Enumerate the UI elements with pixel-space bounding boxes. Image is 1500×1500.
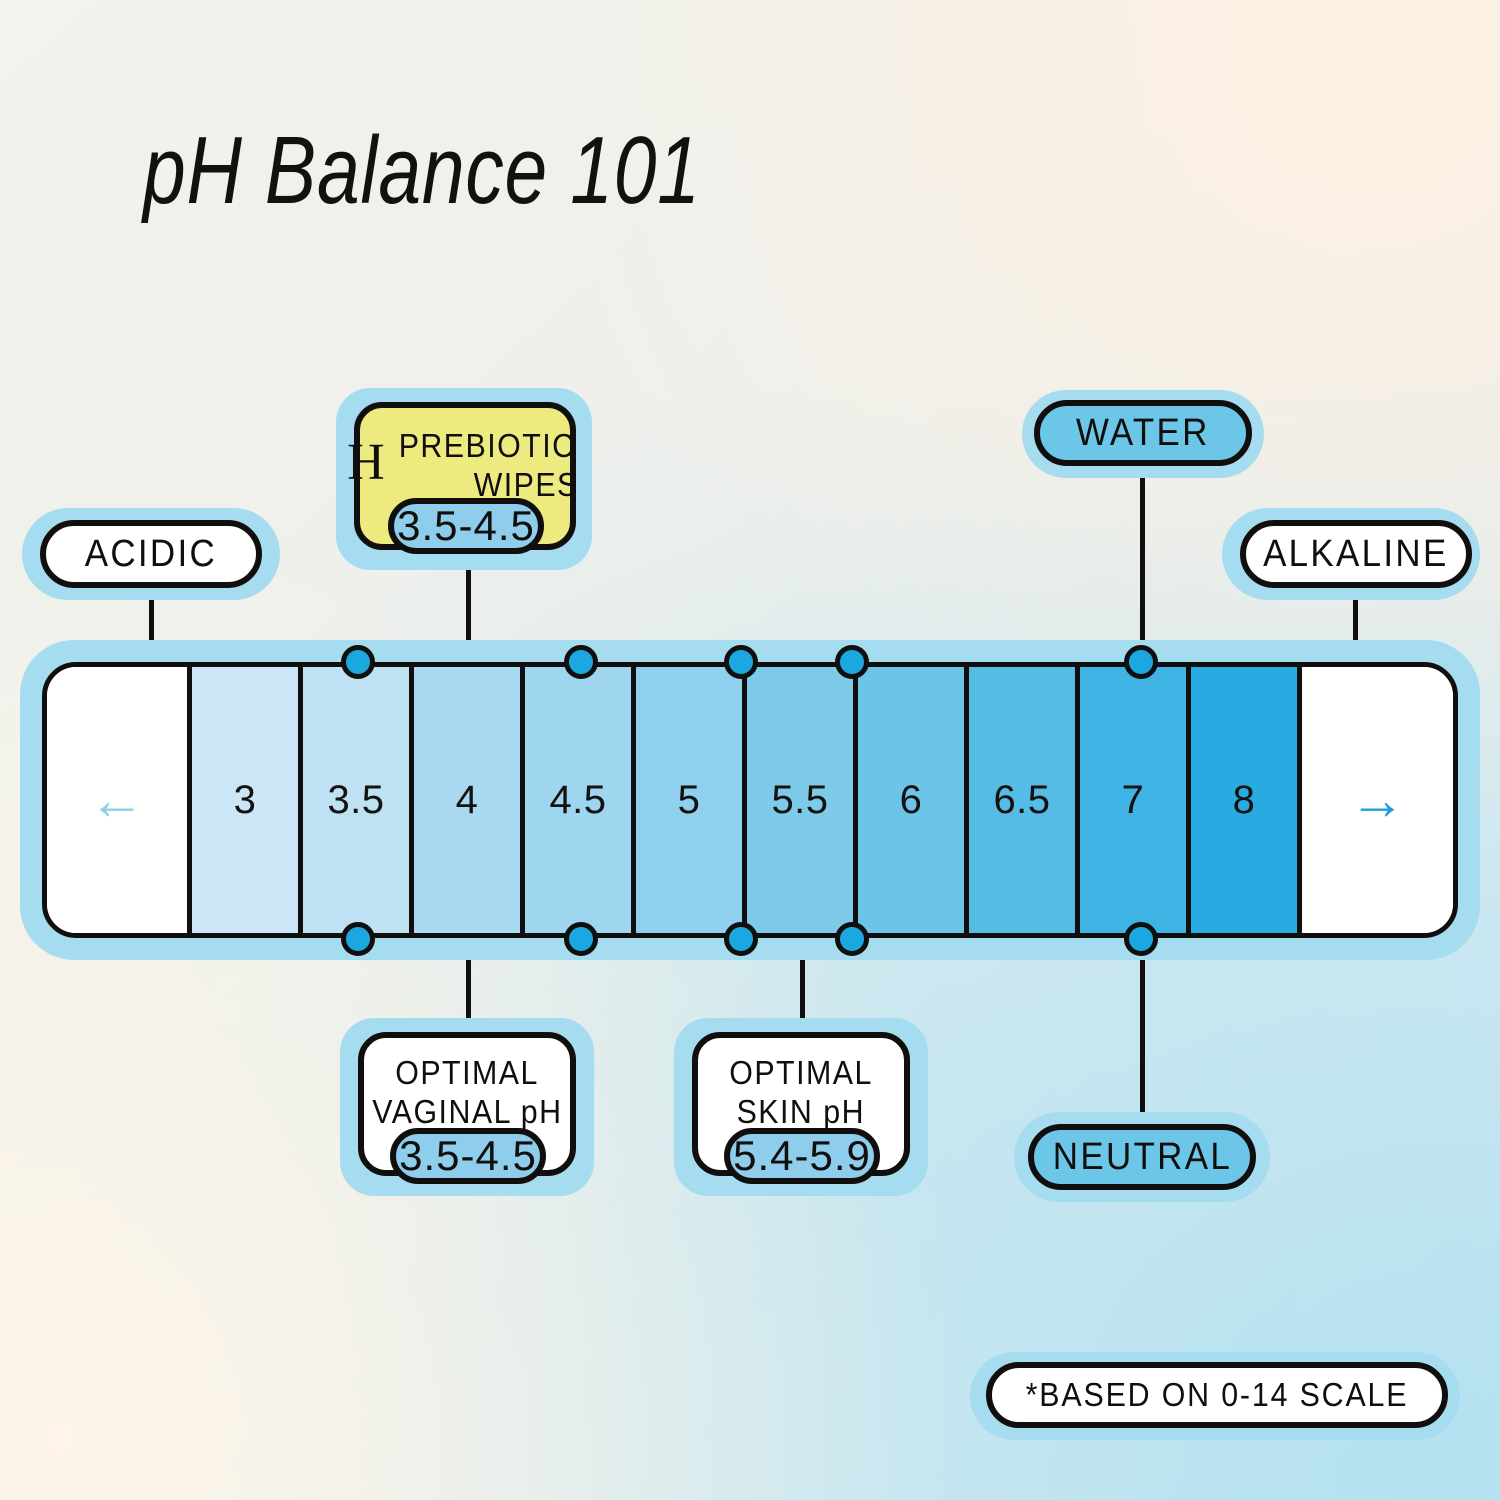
product-name: PREBIOTIC WIPES [391, 427, 583, 505]
scale-dot-bottom-7 [1124, 922, 1158, 956]
scale-cell-left-end: ← [47, 667, 192, 933]
right-arrow-icon: → [1349, 772, 1406, 828]
scale-dot-top-3-5 [341, 645, 375, 679]
scale-dot-top-5-9 [835, 645, 869, 679]
callout-body: WATER [1034, 400, 1252, 466]
scale-dot-bottom-3-5 [341, 922, 375, 956]
scale-dot-top-4-5 [564, 645, 598, 679]
callout-body: ACIDIC [40, 520, 262, 588]
scale-cell-7: 7 [1080, 667, 1191, 933]
callout-body: NEUTRAL [1028, 1124, 1256, 1190]
scale-cell-4: 4 [414, 667, 525, 933]
footnote-body: *BASED ON 0-14 SCALE [986, 1362, 1448, 1428]
scale-cell-label: 5.5 [771, 778, 828, 823]
callout-label: ALKALINE [1263, 532, 1449, 577]
callout-optimal-skin-ph[interactable]: OPTIMAL SKIN pH 5.4-5.9 [674, 1018, 928, 1196]
scale-dot-bottom-4-5 [564, 922, 598, 956]
product-value-pill: 3.5-4.5 [388, 498, 544, 554]
callout-label: NEUTRAL [1052, 1135, 1231, 1180]
scale-cell-3: 3 [192, 667, 303, 933]
scale-cell-label: 3 [234, 778, 257, 823]
scale-cell-label: 4.5 [549, 778, 606, 823]
page-title: pH Balance 101 [143, 116, 701, 226]
scale-cell-label: 4 [456, 778, 479, 823]
vaginal-value-pill: 3.5-4.5 [390, 1128, 546, 1184]
scale-dot-top-7 [1124, 645, 1158, 679]
callout-acidic[interactable]: ACIDIC [22, 508, 280, 600]
callout-label-line-2: SKIN pH [737, 1093, 865, 1132]
scale-cell-8: 8 [1191, 667, 1302, 933]
skin-value-pill: 5.4-5.9 [724, 1128, 880, 1184]
callout-label: WATER [1076, 411, 1210, 456]
scale-cell-6-5: 6.5 [969, 667, 1080, 933]
scale-cell-3-5: 3.5 [303, 667, 414, 933]
callout-label-line-2: VAGINAL pH [372, 1093, 562, 1132]
footnote-label: *BASED ON 0-14 SCALE [1026, 1376, 1409, 1415]
scale-cell-4-5: 4.5 [525, 667, 636, 933]
callout-neutral[interactable]: NEUTRAL [1014, 1112, 1270, 1202]
ph-scale-bar: ← 3 3.5 4 4.5 5 5.5 6 6.5 7 8 → [42, 662, 1458, 938]
scale-cell-label: 7 [1122, 778, 1145, 823]
callout-label-line-1: OPTIMAL [729, 1054, 873, 1093]
callout-label-line-1: OPTIMAL [395, 1054, 539, 1093]
scale-cell-label: 6.5 [993, 778, 1050, 823]
scale-cell-label: 5 [678, 778, 701, 823]
callout-body: ALKALINE [1240, 520, 1472, 588]
scale-dot-bottom-5-9 [835, 922, 869, 956]
footnote-badge: *BASED ON 0-14 SCALE [970, 1352, 1460, 1440]
product-name-line-1: PREBIOTIC [398, 427, 575, 466]
left-arrow-icon: ← [89, 772, 146, 828]
callout-alkaline[interactable]: ALKALINE [1222, 508, 1480, 600]
scale-cell-5: 5 [636, 667, 747, 933]
scale-dot-bottom-5-4 [724, 922, 758, 956]
callout-optimal-vaginal-ph[interactable]: OPTIMAL VAGINAL pH 3.5-4.5 [340, 1018, 594, 1196]
callout-product-prebiotic-wipes[interactable]: H PREBIOTIC WIPES 3.5-4.5 [336, 388, 592, 570]
callout-water[interactable]: WATER [1022, 390, 1264, 478]
scale-dot-top-5-4 [724, 645, 758, 679]
infographic-canvas: pH Balance 101 ← 3 3.5 4 4.5 5 5.5 6 6.5… [0, 0, 1500, 1500]
callout-label: ACIDIC [85, 532, 217, 577]
scale-cell-label: 8 [1233, 778, 1256, 823]
scale-cell-5-5: 5.5 [747, 667, 858, 933]
brand-h-logo: H [347, 437, 385, 489]
scale-cell-6: 6 [858, 667, 969, 933]
scale-cell-label: 6 [900, 778, 923, 823]
scale-cell-right-end: → [1302, 667, 1453, 933]
scale-cell-label: 3.5 [327, 778, 384, 823]
